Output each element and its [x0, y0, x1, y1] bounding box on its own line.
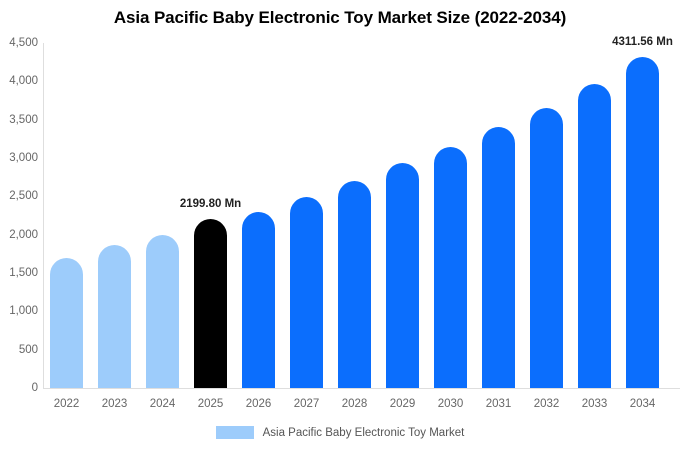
bar-2026[interactable] — [242, 212, 275, 388]
bars-layer: 2022202320242025202620272028202920302031… — [0, 0, 680, 450]
data-label-2025: 2199.80 Mn — [180, 198, 241, 210]
x-axis-tick-label: 2030 — [427, 398, 475, 410]
bar-2030[interactable] — [434, 147, 467, 388]
x-axis-tick-label: 2026 — [235, 398, 283, 410]
legend-label: Asia Pacific Baby Electronic Toy Market — [263, 427, 465, 439]
x-axis-tick-label: 2027 — [283, 398, 331, 410]
x-axis-tick-label: 2032 — [523, 398, 571, 410]
x-axis-tick-label: 2024 — [139, 398, 187, 410]
bar-2032[interactable] — [530, 108, 563, 388]
bar-2024[interactable] — [146, 235, 179, 388]
bar-2023[interactable] — [98, 245, 131, 388]
x-axis-tick-label: 2025 — [187, 398, 235, 410]
chart-container: Asia Pacific Baby Electronic Toy Market … — [0, 0, 680, 450]
x-axis-tick-label: 2022 — [43, 398, 91, 410]
x-axis-tick-label: 2033 — [571, 398, 619, 410]
bar-2034[interactable] — [626, 57, 659, 388]
x-axis-tick-label: 2023 — [91, 398, 139, 410]
x-axis-tick-label: 2031 — [475, 398, 523, 410]
x-axis-tick-label: 2034 — [619, 398, 667, 410]
data-label-2034: 4311.56 Mn — [612, 36, 673, 48]
bar-2029[interactable] — [386, 163, 419, 388]
chart-legend: Asia Pacific Baby Electronic Toy Market — [0, 426, 680, 439]
bar-2028[interactable] — [338, 181, 371, 388]
bar-2031[interactable] — [482, 127, 515, 388]
bar-2027[interactable] — [290, 197, 323, 388]
bar-2025[interactable] — [194, 219, 227, 388]
legend-swatch-icon — [216, 426, 254, 439]
bar-2033[interactable] — [578, 84, 611, 388]
bar-2022[interactable] — [50, 258, 83, 388]
x-axis-tick-label: 2028 — [331, 398, 379, 410]
x-axis-tick-label: 2029 — [379, 398, 427, 410]
